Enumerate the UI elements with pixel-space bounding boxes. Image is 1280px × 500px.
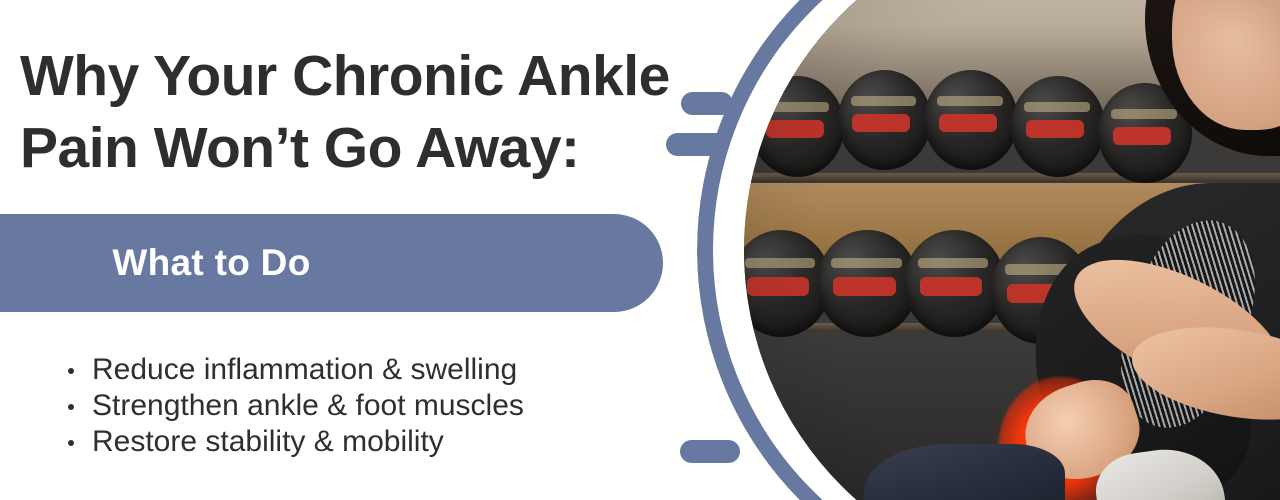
promo-banner: Why Your Chronic Ankle Pain Won’t Go Awa…	[0, 0, 1280, 500]
list-item: Strengthen ankle & foot muscles	[62, 388, 524, 424]
decorative-stub-middle	[666, 133, 728, 156]
page-title: Why Your Chronic Ankle Pain Won’t Go Awa…	[20, 40, 690, 184]
decorative-stub-bottom	[680, 440, 740, 463]
decorative-ring	[697, 0, 1280, 500]
benefits-list: Reduce inflammation & swelling Strengthe…	[62, 352, 524, 460]
list-item: Restore stability & mobility	[62, 424, 524, 460]
ribbon-label: What to Do	[112, 242, 310, 284]
decorative-stub-top	[681, 92, 733, 115]
ribbon-banner: What to Do	[0, 214, 663, 312]
list-item: Reduce inflammation & swelling	[62, 352, 524, 388]
